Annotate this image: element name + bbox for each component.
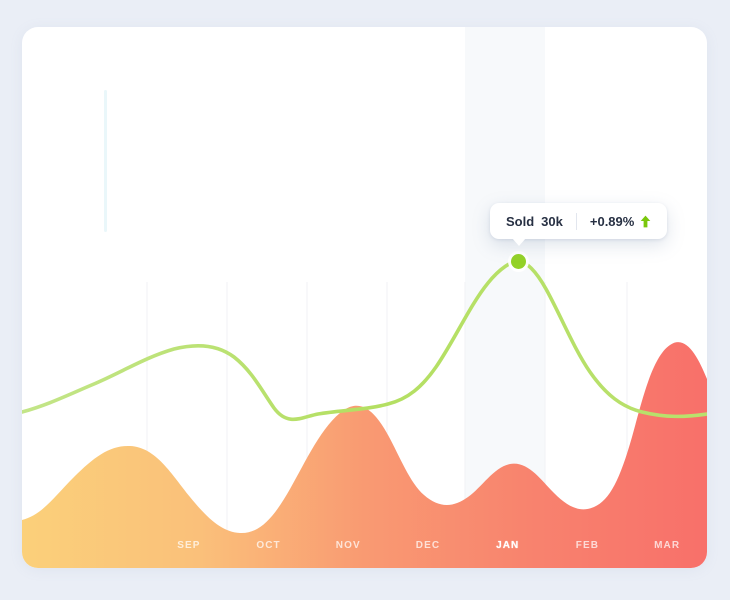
axis-left-spacer <box>22 522 149 568</box>
tooltip-delta: +0.89% <box>590 214 634 229</box>
axis-label-mar[interactable]: MAR <box>627 522 707 568</box>
axis-label-nov[interactable]: NOV <box>308 522 388 568</box>
axis-label-sep[interactable]: SEP <box>149 522 229 568</box>
tooltip-value: 30k <box>541 214 563 229</box>
tooltip-label: Sold <box>506 214 534 229</box>
axis-label-oct[interactable]: OCT <box>229 522 309 568</box>
axis-label-dec[interactable]: DEC <box>388 522 468 568</box>
active-data-point-marker[interactable] <box>511 254 526 269</box>
chart-card: SEP OCT NOV DEC JAN FEB MAR <box>22 27 707 568</box>
chart-plot <box>22 27 707 568</box>
tooltip-divider <box>576 213 577 230</box>
x-axis: SEP OCT NOV DEC JAN FEB MAR <box>22 522 707 568</box>
axis-label-feb[interactable]: FEB <box>548 522 628 568</box>
chart-screen: SEP OCT NOV DEC JAN FEB MAR Sold 30k +0.… <box>0 0 730 600</box>
axis-label-jan[interactable]: JAN <box>468 522 548 568</box>
data-point-tooltip: Sold 30k +0.89% <box>490 203 667 239</box>
series-line-sold <box>22 261 707 419</box>
arrow-up-icon <box>640 215 651 228</box>
